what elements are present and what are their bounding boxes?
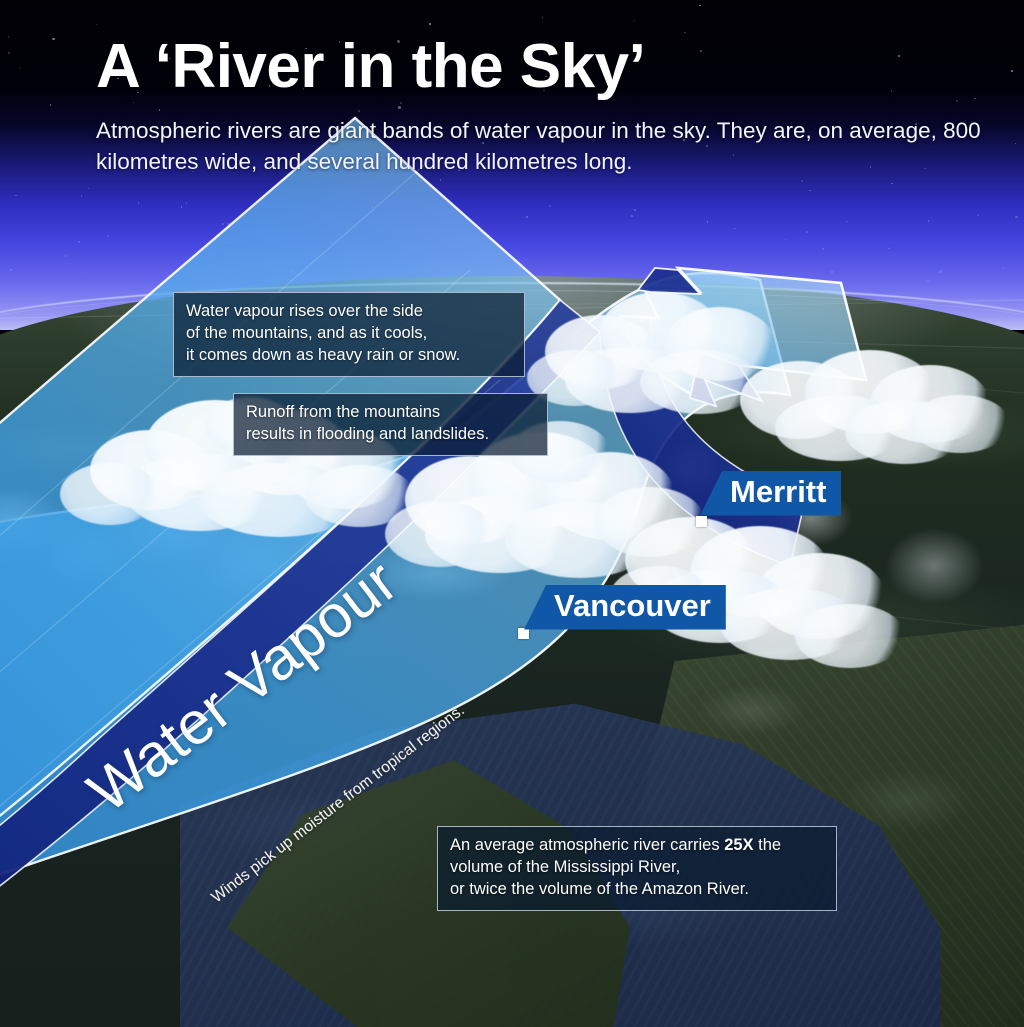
city-label-vancouver[interactable]: Vancouver	[524, 585, 726, 630]
page-subtitle: Atmospheric rivers are giant bands of wa…	[96, 115, 1024, 177]
callout-runoff: Runoff from the mountains results in flo…	[233, 393, 548, 456]
city-marker-vancouver	[518, 628, 529, 639]
city-marker-merritt	[696, 516, 707, 527]
callout-mountain-rise: Water vapour rises over the side of the …	[173, 292, 525, 377]
page-title: A ‘River in the Sky’	[96, 34, 1024, 99]
city-tag-merritt: Merritt	[700, 471, 841, 516]
city-label-merritt[interactable]: Merritt	[700, 471, 841, 516]
infographic-canvas: A ‘River in the Sky’ Atmospheric rivers …	[0, 0, 1024, 1027]
callout-volume-emphasis: 25X	[724, 836, 753, 854]
callout-volume-line1: An average atmospheric river carries	[450, 836, 724, 854]
callout-volume: An average atmospheric river carries 25X…	[437, 826, 837, 911]
city-tag-vancouver: Vancouver	[524, 585, 726, 630]
header: A ‘River in the Sky’ Atmospheric rivers …	[0, 0, 1024, 177]
